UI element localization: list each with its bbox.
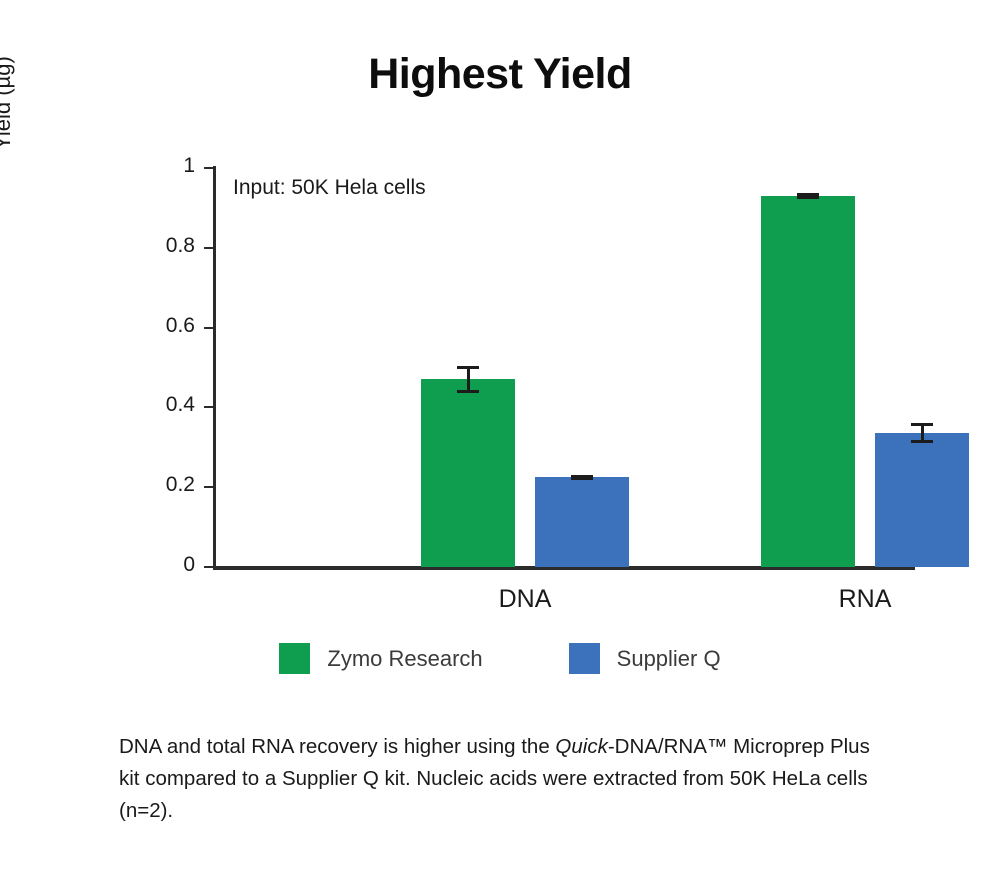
error-bar [911,423,933,443]
caption-italic-product: Quick [555,735,607,758]
x-category-label-rna: RNA [765,585,965,614]
legend-item-supplier-q: Supplier Q [569,643,721,674]
y-axis-tick-label: 0.6 [137,314,195,338]
legend-swatch-green [279,643,310,674]
error-bar-cap-bottom [911,440,933,443]
y-axis-tick-label: 0.4 [137,393,195,417]
y-axis-label: Yield (µg) [0,56,16,150]
legend-label: Zymo Research [327,646,482,672]
plot-area: Input: 50K Hela cells 00.20.40.60.81 [215,168,915,567]
error-bar [457,366,479,394]
page-title: Highest Yield [0,50,1000,99]
y-axis-tick [204,406,215,408]
y-axis-tick [204,247,215,249]
bar-rna-supplier [875,433,969,567]
y-axis-tick [204,486,215,488]
legend-item-zymo-research: Zymo Research [279,643,482,674]
error-bar-cap-bottom [571,477,593,480]
error-bar [797,193,819,199]
error-bar-cap-top [911,423,933,426]
plot-annotation: Input: 50K Hela cells [233,176,426,200]
figure-caption: DNA and total RNA recovery is higher usi… [119,731,879,826]
caption-part-1: DNA and total RNA recovery is higher usi… [119,735,555,758]
chart-legend: Zymo Research Supplier Q [0,643,1000,674]
bar-dna-zymo [421,379,515,567]
y-axis-tick [204,566,215,568]
error-bar-cap-bottom [797,196,819,199]
error-bar-stem [467,366,470,394]
x-category-label-dna: DNA [425,585,625,614]
legend-label: Supplier Q [617,646,721,672]
y-axis-tick-label: 0.8 [137,234,195,258]
bar-dna-supplier [535,477,629,567]
y-axis-tick-label: 0 [137,553,195,577]
y-axis-tick-label: 1 [137,154,195,178]
bar-rna-zymo [761,196,855,567]
y-axis-tick [204,327,215,329]
error-bar-cap-top [457,366,479,369]
error-bar-cap-bottom [457,390,479,393]
legend-swatch-blue [569,643,600,674]
y-axis-tick-label: 0.2 [137,473,195,497]
figure-container: Highest Yield Yield (µg) Input: 50K Hela… [0,0,1000,875]
error-bar [571,475,593,480]
y-axis-tick [204,167,215,169]
